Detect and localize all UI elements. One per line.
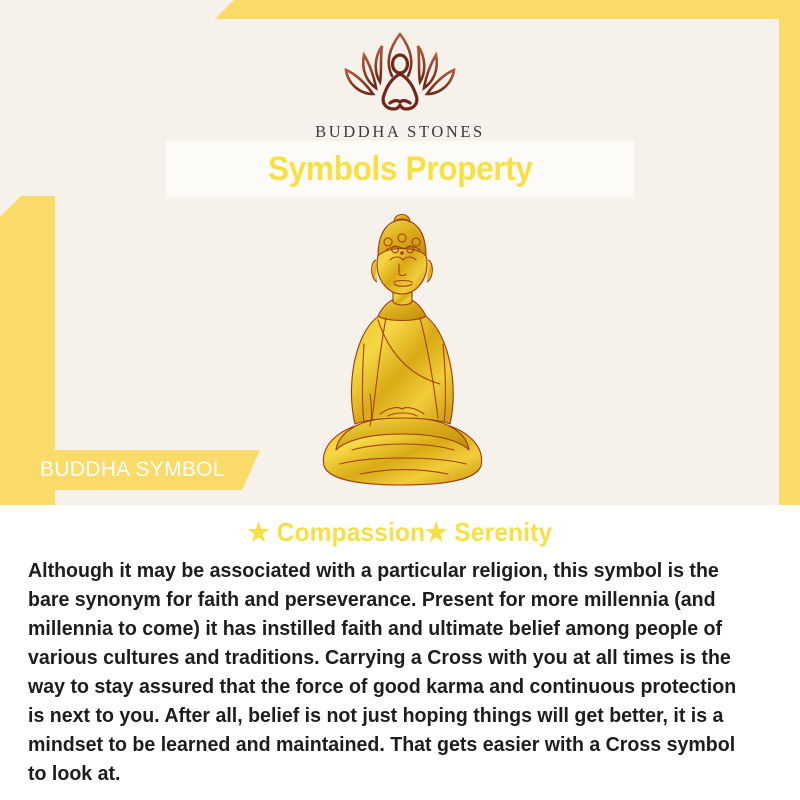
lotus-meditation-icon xyxy=(320,24,480,120)
content-panel: ★ Compassion★ Serenity Although it may b… xyxy=(0,505,800,800)
golden-buddha-statue xyxy=(300,198,505,493)
poster-root: BUDDHA STONES Symbols Property xyxy=(0,0,800,800)
section-badge: BUDDHA SYMBOL xyxy=(18,450,260,490)
page-title-band: Symbols Property xyxy=(166,141,634,198)
content-subtitle: ★ Compassion★ Serenity xyxy=(24,517,776,548)
page-title: Symbols Property xyxy=(268,150,533,189)
content-paragraph: Although it may be associated with a par… xyxy=(28,556,739,788)
section-badge-label: BUDDHA SYMBOL xyxy=(18,458,225,482)
brand-logo-block: BUDDHA STONES xyxy=(0,24,800,142)
decorative-band-top xyxy=(215,0,800,19)
brand-wordmark: BUDDHA STONES xyxy=(0,122,800,142)
